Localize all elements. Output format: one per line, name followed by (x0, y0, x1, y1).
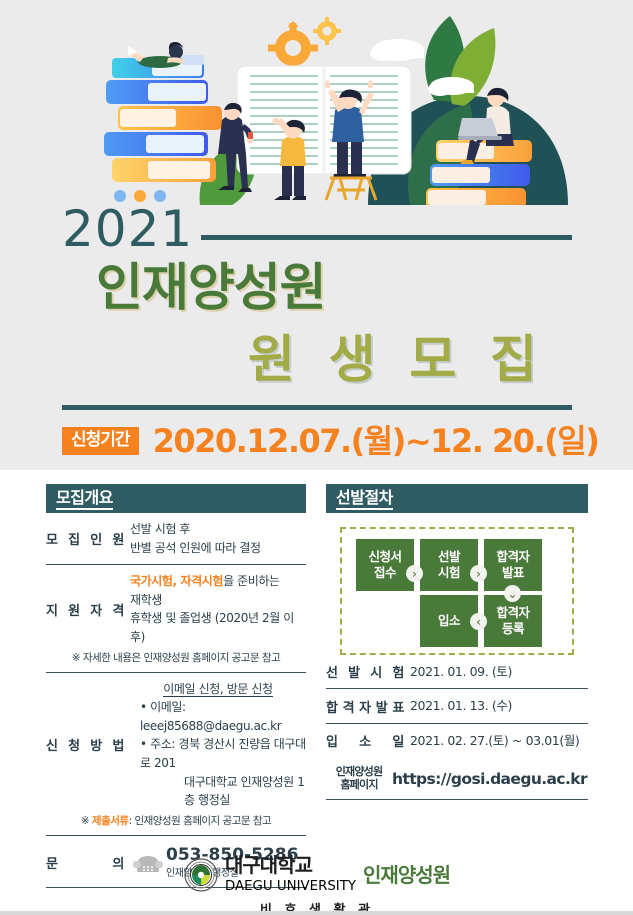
row-result-date: 합격자발표 2021. 01. 13. (수) (326, 689, 588, 723)
recruitment-overview-column: 모집개요 모집인원 선발 시험 후 반별 공석 인원에 따라 결정 지원자격 (46, 484, 306, 888)
apply-note-highlight: 제출서류 (92, 815, 129, 827)
apply-method-heading: 이메일 신청, 방문 신청 (163, 682, 272, 697)
daegu-university-emblem-icon (184, 858, 218, 892)
eligibility-line1-rest: 을 준비하는 (223, 574, 280, 588)
flow-step-register: 합격자등록 (484, 595, 542, 647)
year-text: 2021 (62, 204, 193, 254)
row-eligibility: 지원자격 국가시험, 자격시험을 준비하는 재학생 휴학생 및 졸업생 (202… (46, 565, 306, 648)
recruit-count-line2: 반별 공석 인원에 따라 결정 (130, 539, 306, 558)
poster-root: 2021 인재양성원 원 생 모 집 신청기간 2020.12.07.(월)~1… (0, 0, 633, 915)
apply-method-address: • 주소: 경북 경산시 진량읍 대구대로 201 (130, 735, 306, 772)
footer-university-block: 대구대학교 DAEGU UNIVERSITY (225, 855, 356, 894)
header-illustration (0, 0, 633, 205)
eligibility-highlight: 국가시험, 자격시험 (130, 574, 223, 588)
apply-period-date: 2020.12.07.(월)~12. 20.(일) (153, 425, 599, 457)
section-header-overview: 모집개요 (46, 484, 306, 513)
flow-arrow-4: ‹ (470, 613, 487, 630)
hero-section: 2021 인재양성원 원 생 모 집 신청기간 2020.12.07.(월)~1… (0, 0, 633, 470)
flow-arrow-2: › (470, 565, 487, 582)
row-label-recruit-count: 모집인원 (46, 529, 130, 548)
result-date-value: 2021. 01. 13. (수) (410, 696, 588, 715)
apply-method-email: • 이메일: leeej85688@daegu.ac.kr (130, 698, 306, 735)
footer-university-ko: 대구대학교 (225, 855, 356, 875)
selection-process-column: 선발절차 신청서접수 › 선발시험 › 합격자발표 ⌄ 합격자등록 ‹ (326, 484, 588, 800)
homepage-url-link[interactable]: https://gosi.daegu.ac.kr (392, 770, 587, 788)
apply-method-address-2: 대구대학교 인재양성원 1층 행정실 (130, 773, 306, 810)
footer-logo-line: 대구대학교 DAEGU UNIVERSITY 인재양성원 (184, 855, 450, 894)
year-rule (201, 235, 572, 240)
row-label-entry-date: 입소일 (326, 731, 410, 750)
apply-period-badge: 신청기간 (62, 427, 139, 455)
bottom-strip (0, 911, 633, 915)
section-header-process: 선발절차 (326, 484, 588, 513)
row-exam-date: 선발시험 2021. 01. 09. (토) (326, 655, 588, 689)
row-label-result-date: 합격자발표 (326, 697, 410, 716)
selection-flowchart: 신청서접수 › 선발시험 › 합격자발표 ⌄ 합격자등록 ‹ 입소 (340, 527, 574, 655)
recruit-count-line1: 선발 시험 후 (130, 520, 306, 539)
apply-note-prefix: ※ (81, 815, 92, 827)
row-apply-method: 신청방법 이메일 신청, 방문 신청 • 이메일: leeej85688@dae… (46, 673, 306, 812)
apply-method-note: ※ 제출서류: 인재양성원 홈페이지 공고문 참고 (46, 812, 306, 836)
homepage-label: 인재양성원 홈페이지 (326, 766, 392, 791)
exam-date-value: 2021. 01. 09. (토) (410, 662, 588, 681)
flow-arrow-1: › (406, 565, 423, 582)
body-section: 모집개요 모집인원 선발 시험 후 반별 공석 인원에 따라 결정 지원자격 (0, 470, 633, 915)
section-header-process-label: 선발절차 (336, 488, 393, 510)
footer-university-en: DAEGU UNIVERSITY (225, 879, 356, 894)
flow-step-exam: 선발시험 (420, 539, 478, 591)
footer-institute: 인재양성원 (363, 865, 450, 885)
schedule-table: 선발시험 2021. 01. 09. (토) 합격자발표 2021. 01. 1… (326, 655, 588, 757)
eligibility-line2: 재학생 (130, 591, 306, 610)
entry-date-value: 2021. 02. 27.(토) ~ 03.01(월) (410, 731, 588, 750)
eligibility-note: ※ 자세한 내용은 인재양성원 홈페이지 공고문 참고 (46, 649, 306, 673)
row-label-eligibility: 지원자격 (46, 600, 130, 619)
year-row: 2021 (62, 202, 572, 256)
section-header-overview-label: 모집개요 (56, 488, 113, 510)
flow-step-result: 합격자발표 (484, 539, 542, 591)
row-label-apply-method: 신청방법 (46, 735, 130, 754)
row-label-exam-date: 선발시험 (326, 662, 410, 681)
title-divider (62, 405, 572, 410)
apply-period-row: 신청기간 2020.12.07.(월)~12. 20.(일) (62, 421, 598, 461)
eligibility-line3: 휴학생 및 졸업생 (2020년 2월 이후) (130, 609, 306, 646)
row-recruit-count: 모집인원 선발 시험 후 반별 공석 인원에 따라 결정 (46, 513, 306, 565)
apply-note-rest: : 인재양성원 홈페이지 공고문 참고 (129, 815, 272, 827)
flow-arrow-3: ⌄ (504, 585, 521, 602)
flow-step-apply: 신청서접수 (356, 539, 414, 591)
title-line-1: 인재양성원 (96, 262, 566, 316)
row-homepage: 인재양성원 홈페이지 https://gosi.daegu.ac.kr (326, 757, 588, 800)
title-line-2: 원 생 모 집 (248, 334, 598, 388)
row-entry-date: 입소일 2021. 02. 27.(토) ~ 03.01(월) (326, 724, 588, 757)
footer: 대구대학교 DAEGU UNIVERSITY 인재양성원 비 호 생 활 관 (46, 855, 588, 915)
